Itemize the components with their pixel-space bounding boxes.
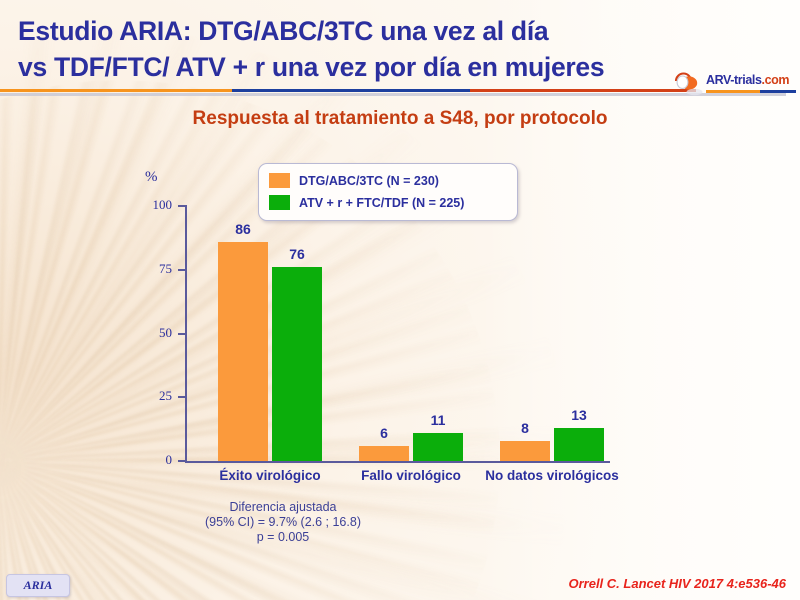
bar — [359, 446, 409, 461]
bar-value-label: 11 — [408, 412, 468, 428]
bar — [413, 433, 463, 461]
logo-underline-orange — [706, 90, 760, 93]
x-axis-line — [185, 461, 610, 463]
logo-name: ARV-trials — [706, 73, 762, 87]
x-axis-category-label: No datos virológicos — [462, 468, 642, 483]
header-divider-segment-orange — [0, 89, 232, 92]
legend-item[interactable]: ATV + r + FTC/TDF (N = 225) — [269, 193, 507, 212]
legend-item[interactable]: DTG/ABC/3TC (N = 230) — [269, 171, 507, 190]
header-divider-segment-red — [470, 89, 696, 92]
header-divider-segment-blue — [232, 89, 470, 92]
page-subtitle: Respuesta al tratamiento a S48, por prot… — [0, 108, 800, 130]
legend-swatch-icon — [269, 173, 290, 188]
bar — [218, 242, 268, 461]
logo-suffix: .com — [762, 73, 790, 87]
chart-legend: DTG/ABC/3TC (N = 230) ATV + r + FTC/TDF … — [258, 163, 518, 221]
statistics-footnote: Diferencia ajustada (95% CI) = 9.7% (2.6… — [138, 500, 428, 545]
legend-swatch-icon — [269, 195, 290, 210]
footnote-line-3: p = 0.005 — [138, 530, 428, 545]
slide-canvas: Estudio ARIA: DTG/ABC/3TC una vez al día… — [0, 0, 800, 600]
header-divider-shadow — [0, 93, 786, 96]
bar-value-label: 86 — [213, 221, 273, 237]
study-badge[interactable]: ARIA — [6, 574, 70, 597]
bar-chart: % 0255075100 8676611813 Éxito virológico… — [0, 140, 800, 500]
legend-item-label: ATV + r + FTC/TDF (N = 225) — [299, 196, 464, 210]
capsule-pill-icon — [672, 70, 706, 103]
page-title-line-2: vs TDF/FTC/ ATV + r una vez por día en m… — [18, 52, 604, 83]
bar — [500, 441, 550, 461]
citation-reference: Orrell C. Lancet HIV 2017 4:e536-46 — [568, 576, 786, 591]
legend-item-label: DTG/ABC/3TC (N = 230) — [299, 174, 439, 188]
bar-value-label: 76 — [267, 246, 327, 262]
logo-underline-blue — [760, 90, 796, 93]
footnote-line-2: (95% CI) = 9.7% (2.6 ; 16.8) — [138, 515, 428, 530]
arv-trials-logo[interactable]: ARV-trials.com — [672, 70, 796, 100]
bar — [554, 428, 604, 461]
page-title-line-1: Estudio ARIA: DTG/ABC/3TC una vez al día — [18, 16, 548, 47]
bar-value-label: 13 — [549, 407, 609, 423]
bar-value-label: 8 — [495, 420, 555, 436]
bar-value-label: 6 — [354, 425, 414, 441]
bar — [272, 267, 322, 461]
logo-wordmark: ARV-trials.com — [706, 73, 789, 87]
footnote-line-1: Diferencia ajustada — [138, 500, 428, 515]
